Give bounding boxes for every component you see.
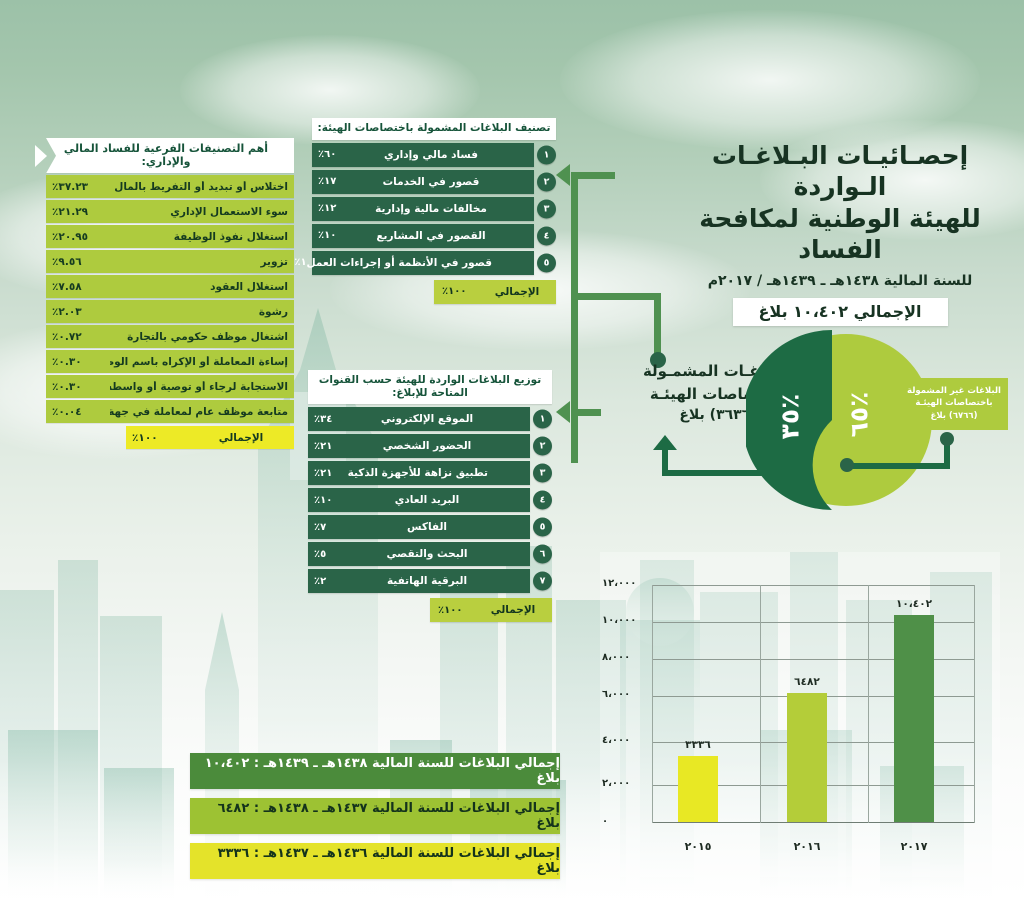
row-value: ٪٧.٥٨ [52,281,110,293]
bar-2017[interactable]: ١٠،٤٠٢ [894,615,934,822]
row-label: تطبيق نزاهة للأجهزة الذكية [348,467,522,479]
row-label: الموقع الإلكتروني [366,413,522,425]
row-number-badge: ٢ [533,437,552,456]
row-value: ٪٣٧.٢٣ [52,181,110,193]
row-label: رشوة [110,306,288,318]
cloud-decoration [560,10,980,150]
table-row[interactable]: ٦ البحث والتقصي ٪٥ [308,542,530,566]
gridline [652,585,974,586]
bar-value-label: ١٠،٤٠٢ [896,598,932,610]
bar-body [894,615,934,822]
row-value: ٪٢٠.٩٥ [52,231,110,243]
table-row[interactable]: تزوير ٪٩.٥٦ [46,250,294,273]
bar-2016[interactable]: ٦٤٨٢ [787,693,827,822]
row-number-badge: ٣ [537,199,556,218]
row-value: ٪١٧ [318,176,370,187]
row-value: ٪١٠ [318,230,370,241]
pie-leader-dot-right [840,458,854,472]
pie-leader-stem-left [662,450,668,476]
row-value: ٪٠.٣٠ [52,356,110,368]
row-value: ٪٢.٠٣ [52,306,110,318]
axis-separator [652,585,653,823]
connector-branch-horizontal [571,293,661,300]
y-axis-tick-label: ٨،٠٠٠ [602,652,648,663]
row-label: البرقية الهاتفية [366,575,522,587]
row-label: اختلاس أو تبديد أو التفريط بالمال العام [110,181,288,193]
row-value: ٪١٢ [318,203,370,214]
table-row[interactable]: اشتغال موظف حكومي بالتجارة ٪٠.٧٢ [46,325,294,348]
table-row[interactable]: متابعة موظف عام لمعاملة في جهة حكومية بم… [46,400,294,423]
bar-value-label: ٦٤٨٢ [794,676,820,688]
yearly-reports-bar-chart: ١٢،٠٠٠ ١٠،٠٠٠ ٨،٠٠٠ ٦،٠٠٠ ٤،٠٠٠ ٢،٠٠٠ ٠ … [600,552,1000,877]
row-number-badge: ٢ [537,172,556,191]
axis-separator [868,585,869,823]
table-row[interactable]: سوء الاستعمال الإداري ٪٢١.٢٩ [46,200,294,223]
x-axis-category-label: ٢٠١٥ [668,840,728,853]
table-row[interactable]: رشوة ٪٢.٠٣ [46,300,294,323]
row-label: البحث والتقصي [366,548,522,560]
row-label: قصور في الخدمات [370,176,526,188]
row-value: ٪٩.٥٦ [52,256,110,268]
page-title-block: إحصـائيـات البـلاغـات الـواردة للهيئة ال… [664,140,1016,326]
pie-excluded-label-line1: البلاغات غير المشمولة [904,385,1004,397]
axis-separator [974,585,975,823]
axis-separator [760,585,761,823]
row-label: الاستجابة لرجاء أو توصية أو واسطة [110,381,288,393]
pie-chart-section: البـلاغـات المشمـولة باختصاصات الهيئـة (… [600,330,1024,515]
row-label: متابعة موظف عام لمعاملة في جهة حكومية بم… [110,406,288,418]
chevron-left-icon [35,145,47,167]
table-row[interactable]: ٢ قصور في الخدمات ٪١٧ [312,170,534,194]
table-row[interactable]: ٣ مخالفات مالية وإدارية ٪١٢ [312,197,534,221]
classification-header: تصنيف البلاغات المشمولة باختصاصات الهيئة… [312,118,556,140]
connector-arrow-to-channels-table [556,401,570,423]
row-label: تزوير [110,256,288,268]
bar-2015[interactable]: ٣٣٣٦ [678,756,718,822]
pie-excluded-percent: ٪٦٥ [844,392,873,438]
row-number-badge: ٥ [537,253,556,272]
table-total-row: الإجمالي ٪١٠٠ [126,426,294,449]
connector-line-horizontal [571,172,615,179]
pie-leader-arrow-up [653,435,677,450]
bar-body [678,756,718,822]
pie-included-percent: ٪٣٥ [775,394,804,440]
row-label: البريد العادي [366,494,522,506]
row-number-badge: ١ [537,145,556,164]
row-value: ٪٢ [314,576,366,587]
row-label: فساد مالي وإداري [370,149,526,161]
table-row[interactable]: ٥ الفاكس ٪٧ [308,515,530,539]
table-total-row: الإجمالي ٪١٠٠ [434,280,556,304]
sub-classifications-table: أهم التصنيفات الفرعية للفساد المالي والإ… [46,138,294,449]
row-number-badge: ٤ [533,491,552,510]
table-row[interactable]: ٤ القصور في المشاريع ٪١٠ [312,224,534,248]
row-label: القصور في المشاريع [370,230,526,242]
total-value: ٪١٠٠ [132,432,178,444]
pie-leader-line-left [662,470,762,476]
row-label: قصور في الأنظمة أو إجراءات العمل [307,257,526,269]
table-row[interactable]: ١ فساد مالي وإداري ٪٦٠ [312,143,534,167]
total-value: ٪١٠٠ [442,286,486,297]
total-value: ٪١٠٠ [438,605,482,616]
y-axis-tick-label: ١٠،٠٠٠ [602,615,648,626]
table-total-row: الإجمالي ٪١٠٠ [430,598,552,622]
reporting-channels-table: توزيع البلاغات الواردة للهيئة حسب القنوا… [308,370,552,622]
row-label: سوء الاستعمال الإداري [110,206,288,218]
table-row[interactable]: ٢ الحضور الشخصي ٪٢١ [308,434,530,458]
row-label: الفاكس [366,521,522,533]
row-number-badge: ٥ [533,518,552,537]
pie-excluded-label: البلاغات غير المشمولة باختصاصات الهيئـة … [900,378,1008,430]
row-value: ٪٢١ [314,441,366,452]
row-number-badge: ١ [533,410,552,429]
total-label: الإجمالي [486,286,548,298]
table-row[interactable]: ٧ البرقية الهاتفية ٪٢ [308,569,530,593]
sub-classifications-header: أهم التصنيفات الفرعية للفساد المالي والإ… [46,138,294,173]
total-reports-badge: الإجمالي ١٠،٤٠٢ بلاغ [733,298,948,326]
connector-line-horizontal-lower [571,409,601,416]
total-label: الإجمالي [482,604,544,616]
infographic-poster: إحصـائيـات البـلاغـات الـواردة للهيئة ال… [0,0,1024,900]
reporting-channels-header: توزيع البلاغات الواردة للهيئة حسب القنوا… [308,370,552,404]
y-axis-tick-label: ٠ [602,816,648,827]
summary-box-1437: إجمالي البلاغات للسنة المالية ١٤٣٦هـ ـ ١… [190,843,560,879]
row-value: ٪٠.٠٤ [52,406,110,418]
pie-leader-line-right [845,463,950,469]
summary-box-1438: إجمالي البلاغات للسنة المالية ١٤٣٧هـ ـ ١… [190,798,560,834]
row-label: استغلال نفوذ الوظيفة [110,231,288,243]
page-title-line-1: إحصـائيـات البـلاغـات الـواردة [664,140,1016,203]
row-value: ٪٥ [314,549,366,560]
table-row[interactable]: ٤ البريد العادي ٪١٠ [308,488,530,512]
table-row[interactable]: ٥ قصور في الأنظمة أو إجراءات العمل ٪١ [312,251,534,275]
row-label: مخالفات مالية وإدارية [370,203,526,215]
row-value: ٪٢١ [314,468,348,479]
x-axis-category-label: ٢٠١٦ [777,840,837,853]
bar-value-label: ٣٣٣٦ [685,739,711,751]
table-row[interactable]: ٣ تطبيق نزاهة للأجهزة الذكية ٪٢١ [308,461,530,485]
row-value: ٪٧ [314,522,366,533]
row-value: ٪٦٠ [318,149,370,160]
row-value: ٪٣٤ [314,414,366,425]
x-axis-line [652,822,974,823]
classification-table: تصنيف البلاغات المشمولة باختصاصات الهيئة… [312,118,556,304]
row-value: ٪١٠ [314,495,366,506]
row-label: الحضور الشخصي [366,440,522,452]
row-number-badge: ٧ [533,572,552,591]
table-row[interactable]: إساءة المعاملة أو الإكراه باسم الوظيفة ٪… [46,350,294,373]
row-number-badge: ٦ [533,545,552,564]
table-row[interactable]: ١ الموقع الإلكتروني ٪٣٤ [308,407,530,431]
summary-box-1439: إجمالي البلاغات للسنة المالية ١٤٣٨هـ ـ ١… [190,753,560,789]
connector-arrow-to-classification-table [556,164,570,186]
table-row[interactable]: استغلال العقود ٪٧.٥٨ [46,275,294,298]
total-label: الإجمالي [178,432,288,444]
row-value: ٪٠.٧٢ [52,331,110,343]
row-number-badge: ٤ [537,226,556,245]
row-number-badge: ٣ [533,464,552,483]
table-row[interactable]: استغلال نفوذ الوظيفة ٪٢٠.٩٥ [46,225,294,248]
page-title-line-2: للهيئة الوطنية لمكافحة الفساد [664,203,1016,266]
pie-leader-dot-top-right [940,432,954,446]
row-value: ٪٢١.٢٩ [52,206,110,218]
row-value: ٪١ [294,257,306,268]
y-axis-tick-label: ٤،٠٠٠ [602,735,648,746]
y-axis-tick-label: ٦،٠٠٠ [602,689,648,700]
connector-line-to-channels-table [571,409,578,463]
row-value: ٪٠.٣٠ [52,381,110,393]
pie-excluded-count: (٦٧٦٦) بلاغ [904,410,1004,422]
pie-excluded-label-line2: باختصاصات الهيئـة [904,397,1004,409]
page-title-period: للسنة المالية ١٤٣٨هـ ـ ١٤٣٩هـ / ٢٠١٧م [664,273,1016,289]
table-row[interactable]: الاستجابة لرجاء أو توصية أو واسطة ٪٠.٣٠ [46,375,294,398]
x-axis-category-label: ٢٠١٧ [884,840,944,853]
bar-body [787,693,827,822]
row-label: اشتغال موظف حكومي بالتجارة [110,331,288,343]
row-label: إساءة المعاملة أو الإكراه باسم الوظيفة [110,356,288,368]
table-row[interactable]: اختلاس أو تبديد أو التفريط بالمال العام … [46,175,294,198]
y-axis-tick-label: ١٢،٠٠٠ [602,578,648,589]
row-label: استغلال العقود [110,281,288,293]
y-axis-tick-label: ٢،٠٠٠ [602,778,648,789]
